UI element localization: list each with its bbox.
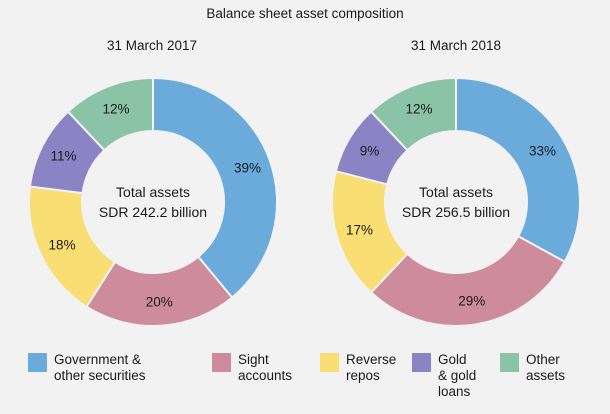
slice-label: 17% xyxy=(346,223,373,238)
center-label-2017-line1: Total assets xyxy=(17,182,289,202)
panel-title-2018: 31 March 2018 xyxy=(306,38,606,53)
legend-item: Sight accounts xyxy=(212,352,292,384)
legend-item: Gold & gold loans xyxy=(412,352,476,400)
center-label-2017-line2: SDR 242.2 billion xyxy=(17,202,289,222)
legend-label: Gold & gold loans xyxy=(438,352,476,400)
legend-label: Other assets xyxy=(526,352,565,384)
slice-label: 12% xyxy=(102,101,129,116)
legend-label: Government & other securities xyxy=(54,352,146,384)
legend-swatch xyxy=(28,353,47,372)
pie-slice xyxy=(456,78,580,262)
legend-swatch xyxy=(320,353,339,372)
slice-label: 39% xyxy=(234,160,261,175)
slice-label: 29% xyxy=(458,294,485,309)
legend-item: Reverse repos xyxy=(320,352,396,384)
legend-swatch xyxy=(212,353,231,372)
center-label-2018: Total assets SDR 256.5 billion xyxy=(320,182,592,222)
legend-swatch xyxy=(500,353,519,372)
legend-item: Government & other securities xyxy=(28,352,146,384)
legend: Government & other securitiesSight accou… xyxy=(0,348,610,414)
donut-chart-2018: Total assets SDR 256.5 billion 33%29%17%… xyxy=(320,66,592,338)
panel-title-2017: 31 March 2017 xyxy=(2,38,302,53)
slice-label: 9% xyxy=(360,143,380,158)
center-label-2018-line2: SDR 256.5 billion xyxy=(320,202,592,222)
legend-item: Other assets xyxy=(500,352,565,384)
center-label-2017: Total assets SDR 242.2 billion xyxy=(17,182,289,222)
slice-label: 33% xyxy=(529,143,556,158)
legend-swatch xyxy=(412,353,431,372)
slice-label: 20% xyxy=(146,295,173,310)
center-label-2018-line1: Total assets xyxy=(320,182,592,202)
chart-page: Balance sheet asset composition 31 March… xyxy=(0,0,610,414)
legend-label: Reverse repos xyxy=(346,352,396,384)
slice-label: 18% xyxy=(49,237,76,252)
chart-title: Balance sheet asset composition xyxy=(0,6,610,21)
slice-label: 11% xyxy=(50,149,76,164)
slice-label: 12% xyxy=(405,101,432,116)
donut-chart-2017: Total assets SDR 242.2 billion 39%20%18%… xyxy=(17,66,289,338)
legend-label: Sight accounts xyxy=(238,352,292,384)
